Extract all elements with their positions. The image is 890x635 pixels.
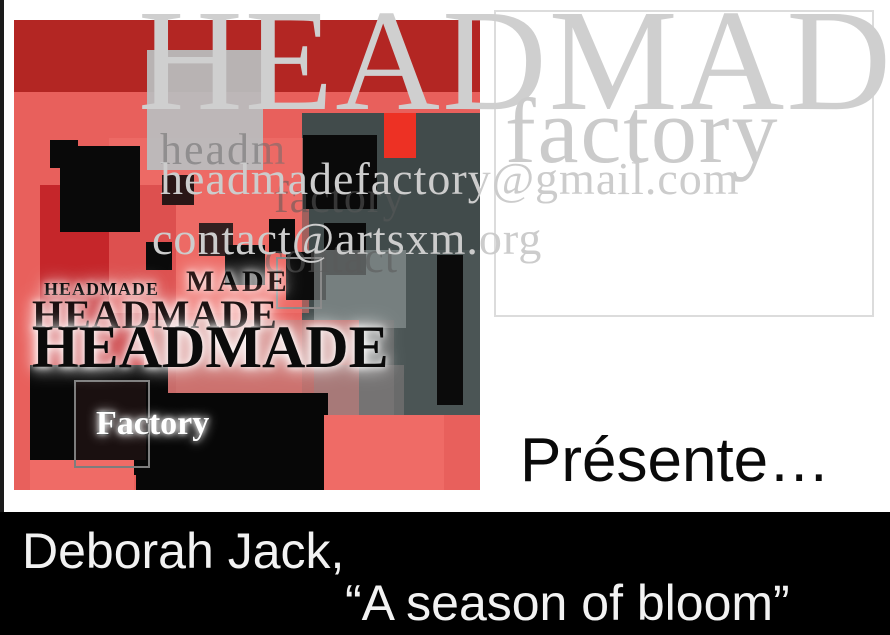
collage-rect-black-big-1 [303,135,377,209]
collage-rect-black-sq-5 [269,219,295,253]
poster-root: headm factory contact HEADMADE MADE HEAD… [0,0,890,635]
headmade-logotype-stack: HEADMADE MADE HEADMADE HEADMADE Factory [14,255,480,455]
headmade-logo-factory: Factory [96,405,209,443]
collage-rect-black-2 [60,146,140,232]
presents-label: Présente… [520,425,830,496]
artist-name: Deborah Jack, [22,522,344,580]
collage-rect-brightred [384,113,416,158]
headmade-collage-artwork: headm factory contact HEADMADE MADE HEAD… [14,20,480,490]
bottom-title-band: Deborah Jack, “A season of bloom” [0,512,890,635]
page-left-edge [0,0,4,512]
contact-info-box [494,10,874,317]
collage-rect-lightgray [147,50,263,170]
collage-rect-black-sq-1 [162,175,194,205]
artwork-title: “A season of bloom” [345,574,790,632]
headmade-logo-large: HEADMADE [32,313,389,382]
